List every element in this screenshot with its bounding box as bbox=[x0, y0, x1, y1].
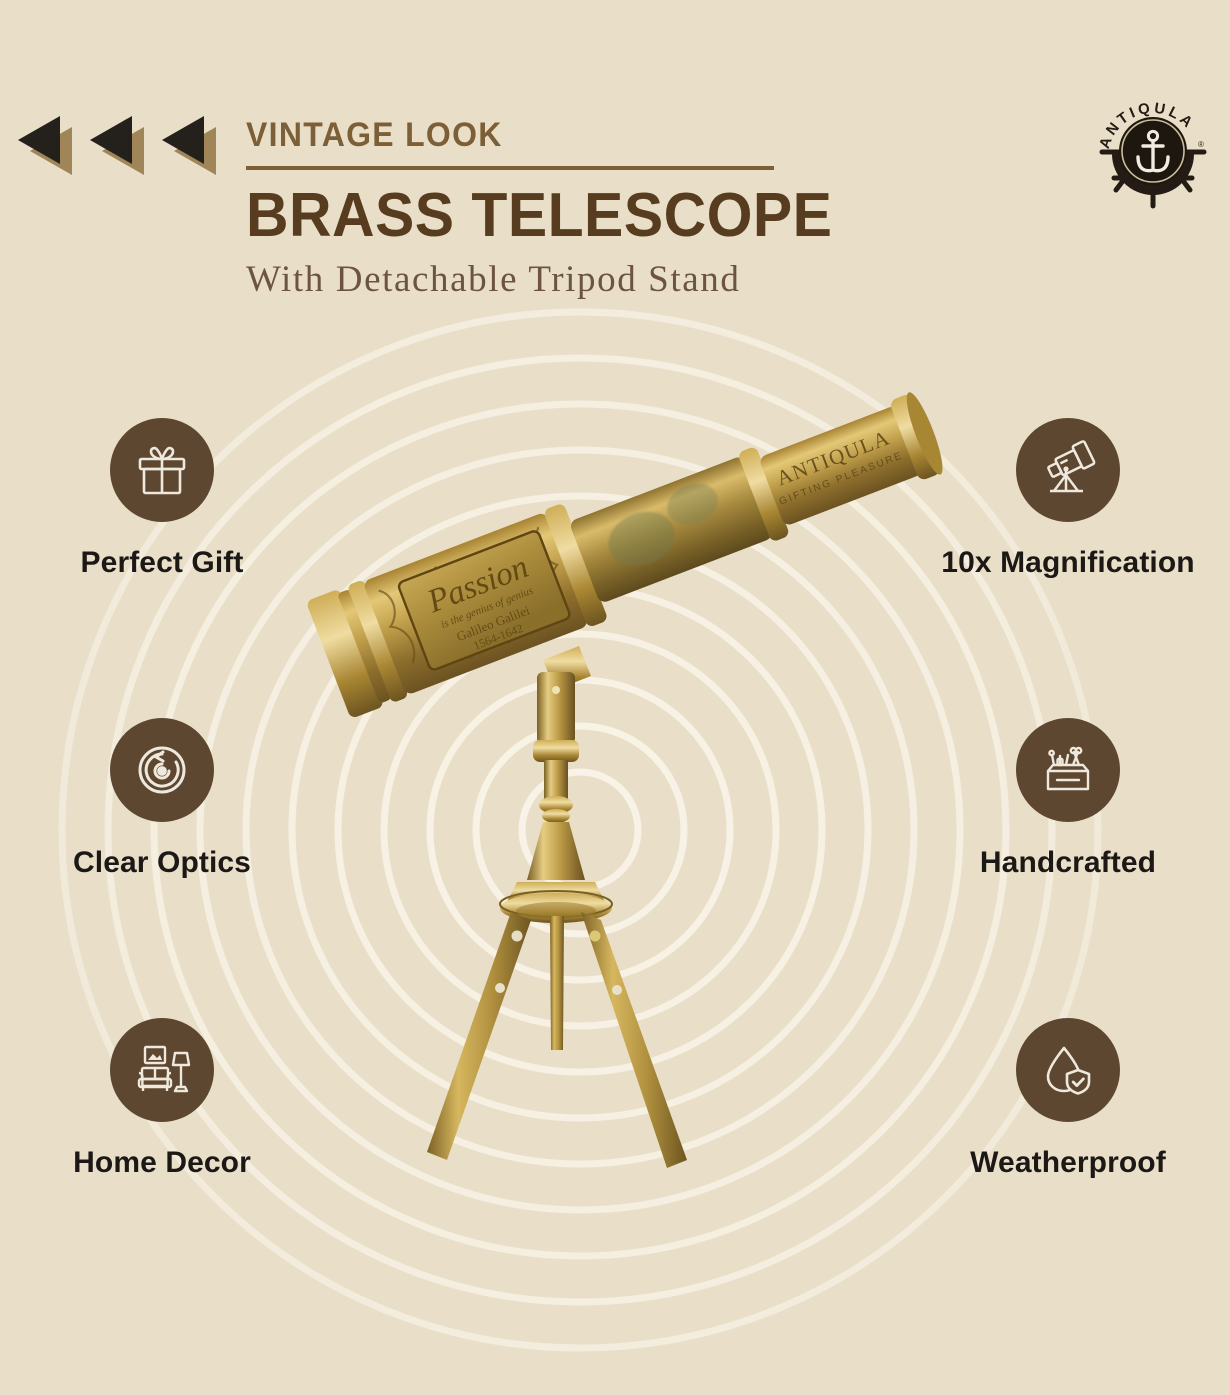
feature-icon-badge bbox=[1016, 1018, 1120, 1122]
feature-label: 10x Magnification bbox=[941, 546, 1194, 580]
header: VINTAGE LOOK BRASS TELESCOPE With Detach… bbox=[0, 0, 1230, 340]
title-block: VINTAGE LOOK BRASS TELESCOPE With Detach… bbox=[246, 118, 1006, 301]
feature-weatherproof[interactable]: Weatherproof bbox=[918, 1018, 1218, 1318]
page-title: BRASS TELESCOPE bbox=[246, 184, 968, 247]
feature-home-decor[interactable]: Home Decor bbox=[12, 1018, 312, 1318]
feature-label: Weatherproof bbox=[970, 1146, 1166, 1180]
left-arrow-icon bbox=[18, 116, 72, 174]
brand-logo: ANTIQULA ® bbox=[1094, 92, 1212, 214]
features-left: Perfect Gift Clear Optics bbox=[12, 418, 312, 1318]
feature-clear-optics[interactable]: Clear Optics bbox=[12, 718, 312, 1018]
features-right: 10x Magnification bbox=[918, 418, 1218, 1318]
feature-icon-badge bbox=[110, 418, 214, 522]
feature-label: Handcrafted bbox=[980, 846, 1156, 880]
gift-icon bbox=[131, 439, 193, 501]
feature-perfect-gift[interactable]: Perfect Gift bbox=[12, 418, 312, 718]
telescope-icon bbox=[1037, 439, 1099, 501]
lens-icon bbox=[132, 740, 192, 800]
feature-icon-badge bbox=[1016, 718, 1120, 822]
feature-icon-badge bbox=[110, 718, 214, 822]
waterdrop-shield-icon bbox=[1037, 1039, 1099, 1101]
feature-magnification[interactable]: 10x Magnification bbox=[918, 418, 1218, 718]
toolbox-icon bbox=[1037, 739, 1099, 801]
subtitle-text: With Detachable Tripod Stand bbox=[246, 259, 1006, 302]
title-divider bbox=[246, 166, 774, 170]
feature-label: Clear Optics bbox=[73, 846, 251, 880]
registered-mark: ® bbox=[1198, 140, 1204, 149]
poster-canvas: VINTAGE LOOK BRASS TELESCOPE With Detach… bbox=[0, 0, 1230, 1395]
sofa-lamp-icon bbox=[131, 1039, 193, 1101]
feature-label: Home Decor bbox=[73, 1146, 251, 1180]
feature-handcrafted[interactable]: Handcrafted bbox=[918, 718, 1218, 1018]
eyebrow-text: VINTAGE LOOK bbox=[246, 118, 960, 154]
feature-icon-badge bbox=[1016, 418, 1120, 522]
left-arrow-icon bbox=[162, 116, 216, 174]
decorative-arrows bbox=[18, 116, 216, 174]
product-image: Passion is the genius of genius Galileo … bbox=[255, 360, 995, 1220]
feature-label: Perfect Gift bbox=[81, 546, 244, 580]
left-arrow-icon bbox=[90, 116, 144, 174]
feature-icon-badge bbox=[110, 1018, 214, 1122]
